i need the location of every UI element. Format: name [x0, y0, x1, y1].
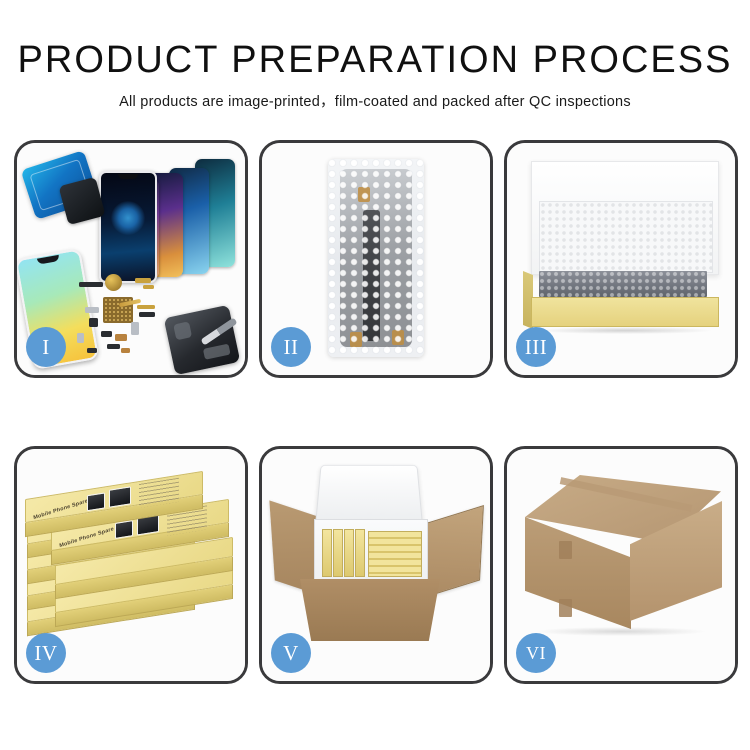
step-badge-4: IV [26, 633, 66, 673]
part-copper-shield [121, 348, 130, 353]
box-bubble-wrap-layer [539, 271, 707, 297]
packed-yellow-box-4 [355, 529, 365, 577]
step-badge-1: I [26, 327, 66, 367]
part-camera [89, 318, 98, 327]
process-step-panel-3: III [504, 140, 738, 378]
process-step-grid: I II III [14, 140, 736, 684]
part-button [101, 331, 112, 337]
box-label-screen-b1 [109, 486, 131, 507]
box-front-panel [531, 297, 719, 327]
box-stack: Mobile Phone Spare Parts Mobile Phone Sp… [25, 471, 239, 661]
process-step-panel-6: VI [504, 446, 738, 684]
carton-front-panel [300, 579, 440, 641]
part-sensor [87, 348, 97, 353]
packed-yellow-box-1 [322, 529, 332, 577]
step-badge-5: V [271, 633, 311, 673]
part-flex-gold-3 [137, 305, 155, 309]
process-step-panel-5: V [259, 446, 493, 684]
box-label-screen-a2 [115, 520, 133, 539]
packed-yellow-box-3 [344, 529, 354, 577]
part-flex-gold-2 [143, 285, 154, 289]
process-step-panel-1: I [14, 140, 248, 378]
part-earpiece [79, 282, 103, 287]
page-header: PRODUCT PREPARATION PROCESS All products… [0, 0, 750, 111]
packed-yellow-box-2 [333, 529, 343, 577]
packed-yellow-box-stack [368, 531, 422, 577]
part-bracket-1 [85, 307, 99, 313]
page-title: PRODUCT PREPARATION PROCESS [0, 38, 750, 82]
part-flex-gold-1 [135, 278, 151, 283]
box-label-screen-a1 [87, 492, 105, 511]
part-screw-pack [77, 333, 84, 343]
part-connector [107, 344, 120, 349]
wrapped-screen-flex [363, 210, 380, 341]
wrapped-connector-left [350, 332, 362, 347]
wrapped-connector-right [392, 330, 404, 345]
box-ground-shadow [539, 327, 711, 334]
step-badge-2: II [271, 327, 311, 367]
part-antenna [139, 312, 155, 317]
wrapped-connector-top [358, 187, 370, 202]
sealed-carton-left-face [525, 517, 631, 629]
carton-seam-tab-top [559, 541, 572, 559]
foam-box-lid [315, 465, 423, 525]
box-foam-sheet [539, 201, 713, 273]
speaker-module-icon [105, 274, 122, 291]
bubble-wrap-bag [328, 159, 424, 357]
part-vibrator [115, 334, 127, 341]
step-badge-6: VI [516, 633, 556, 673]
phone-screen-front [99, 171, 157, 283]
sealed-carton-shadow [537, 627, 705, 636]
part-sim-tray [131, 322, 139, 335]
step-badge-3: III [516, 327, 556, 367]
process-step-panel-2: II [259, 140, 493, 378]
page-subtitle: All products are image-printed，film-coat… [0, 93, 750, 111]
carton-seam-tab-bottom [559, 599, 572, 617]
process-step-panel-4: Mobile Phone Spare Parts Mobile Phone Sp… [14, 446, 248, 684]
